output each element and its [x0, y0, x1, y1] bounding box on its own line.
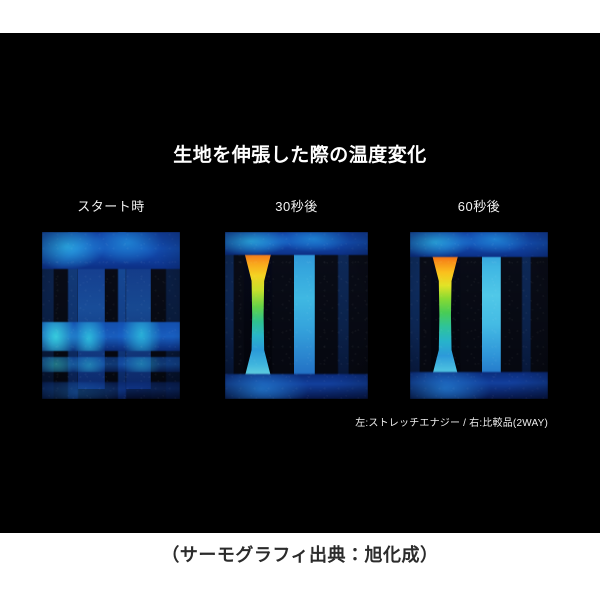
- page-title: 生地を伸張した際の温度変化: [0, 140, 600, 167]
- slide-root: 生地を伸張した際の温度変化 スタート時 30秒後 60秒後: [0, 0, 600, 600]
- column-label-after-30-seconds: 30秒後: [225, 196, 368, 215]
- column-label-start: スタート時: [42, 196, 180, 215]
- legend-caption: 左:ストレッチエナジー / 右:比較品(2WAY): [355, 414, 548, 429]
- thermography-stage: 生地を伸張した際の温度変化 スタート時 30秒後 60秒後: [0, 33, 600, 533]
- column-label-after-60-seconds: 60秒後: [410, 196, 548, 215]
- thermal-image-after-60-seconds: [410, 232, 548, 399]
- source-note: （サーモグラフィ出典：旭化成）: [0, 541, 600, 567]
- thermal-image-after-30-seconds: [225, 232, 368, 399]
- thermal-image-start: [42, 232, 180, 399]
- vignette: [225, 232, 368, 399]
- vignette: [410, 232, 548, 399]
- vignette: [42, 232, 180, 399]
